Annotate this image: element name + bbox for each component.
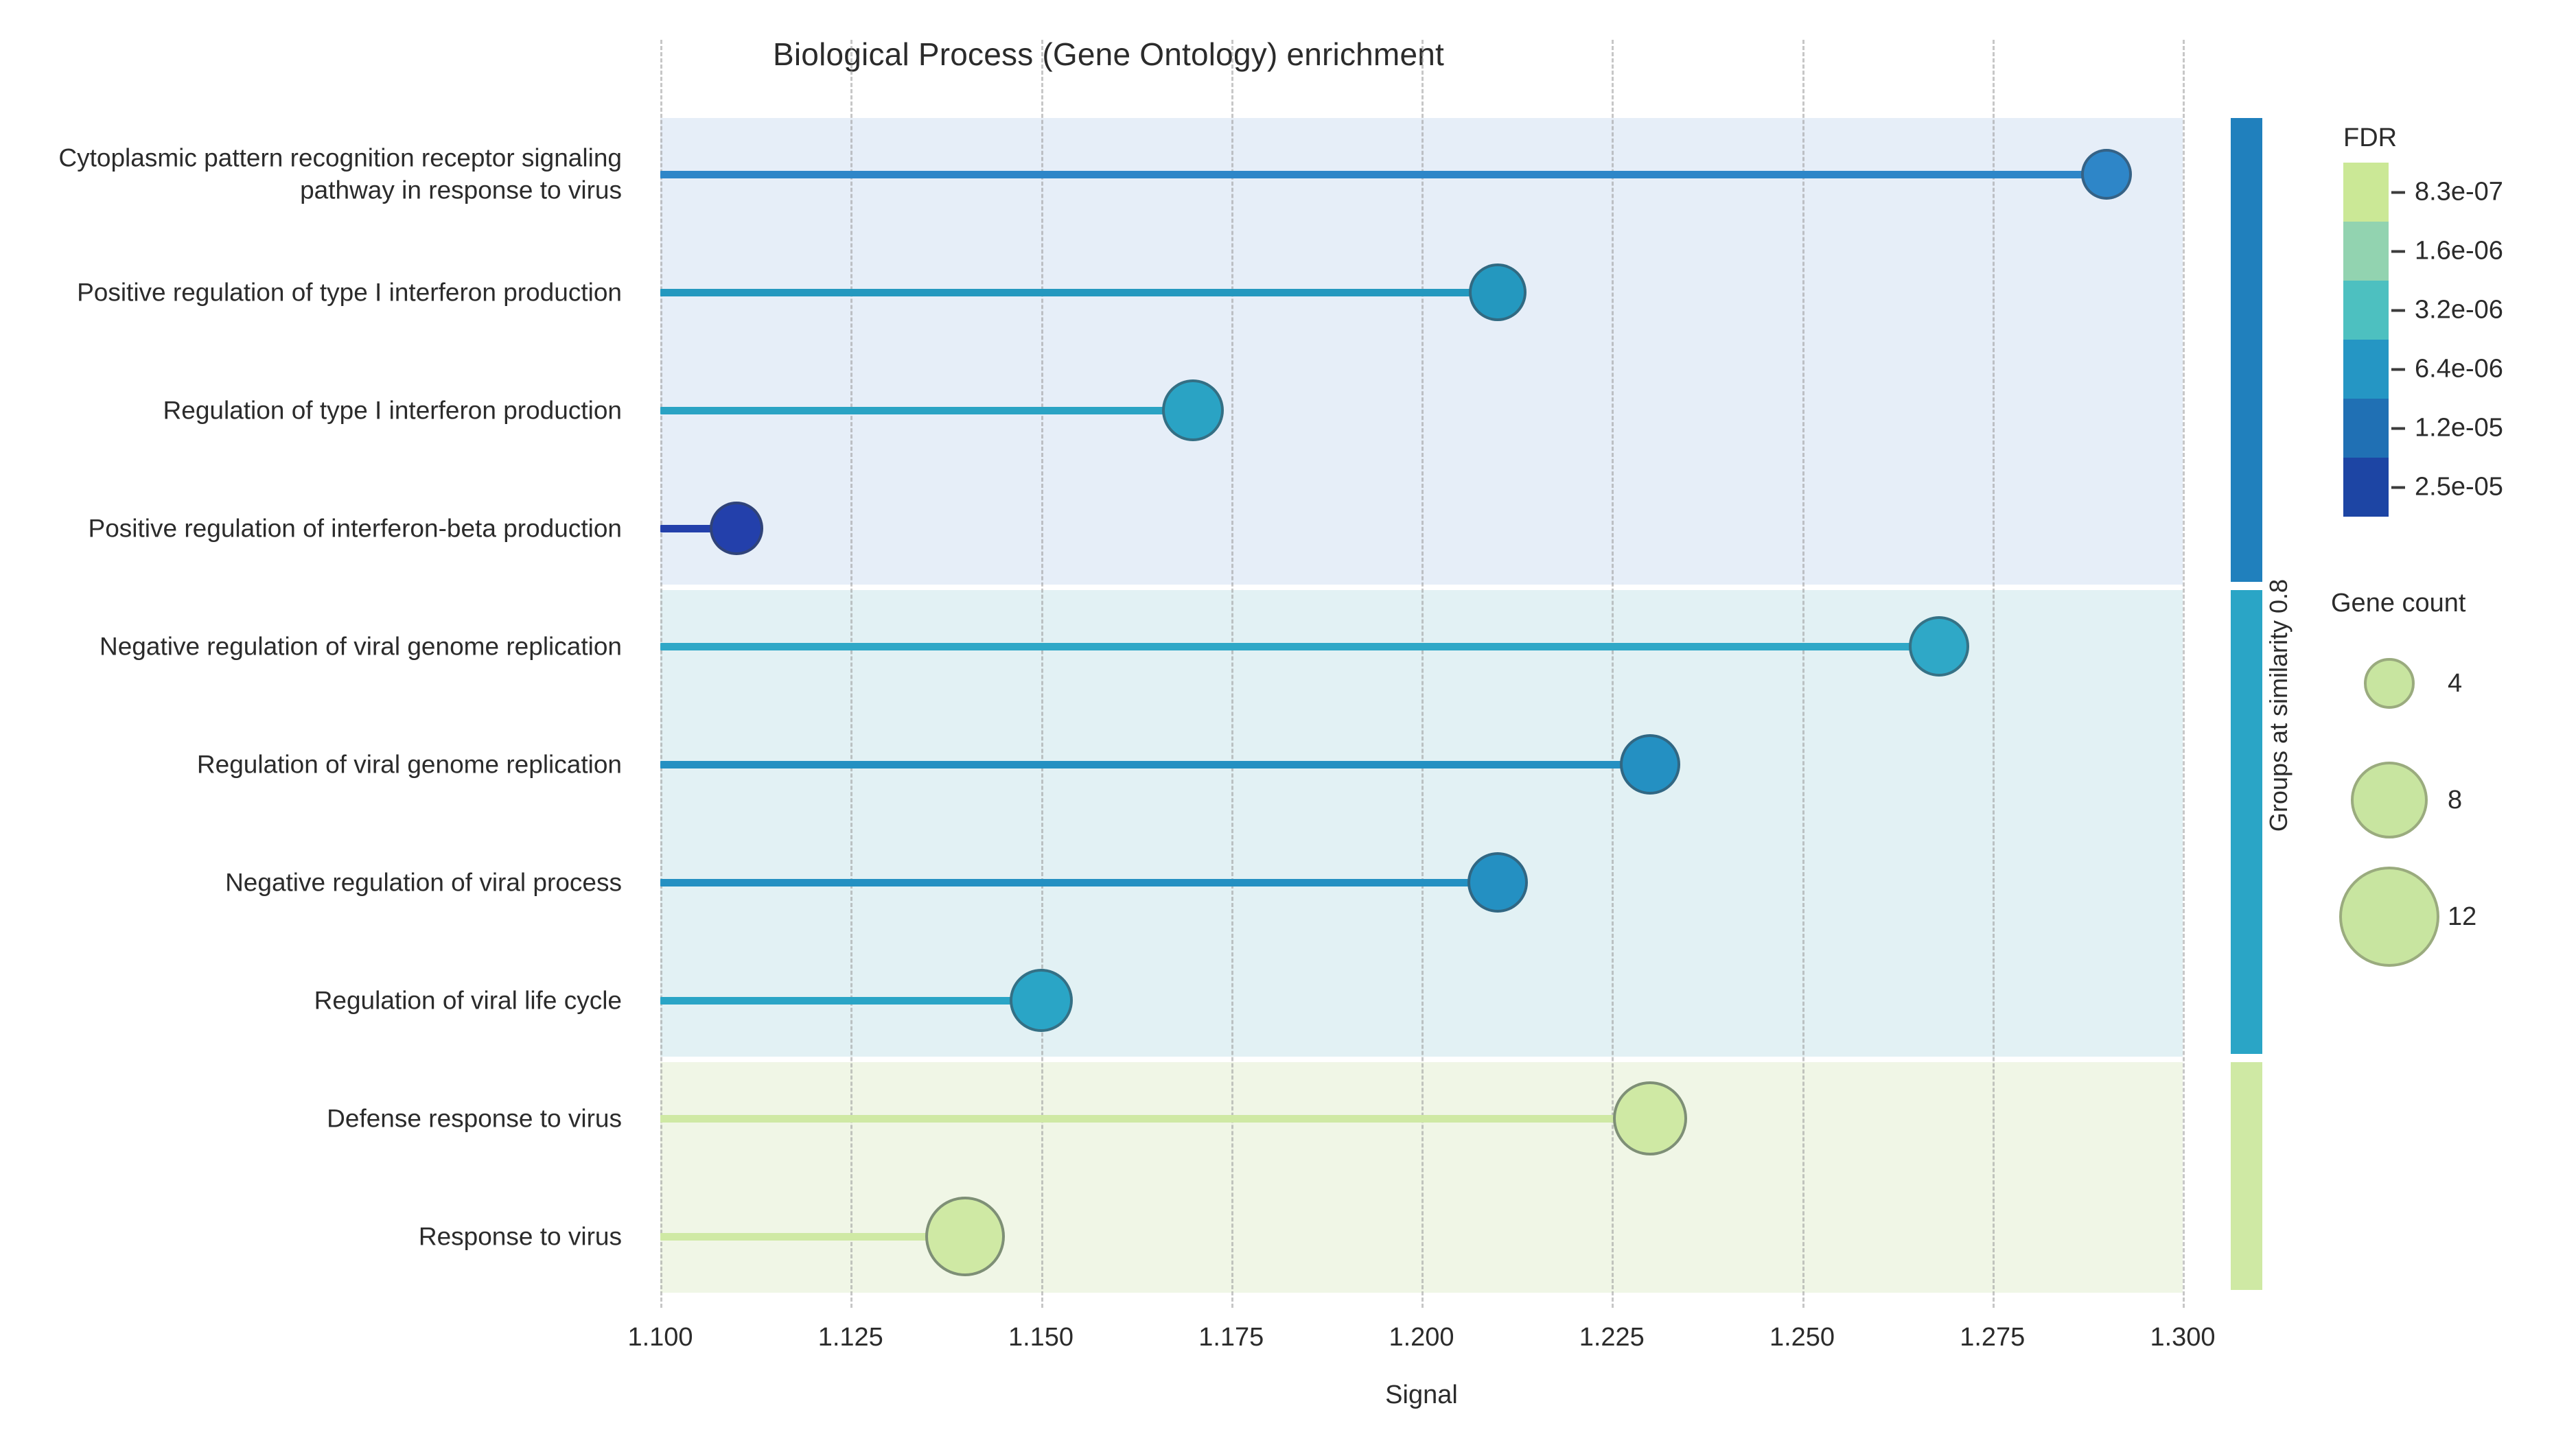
data-point-dot[interactable] (925, 1197, 1005, 1276)
gene-count-bubble (2339, 867, 2439, 967)
fdr-tick: 6.4e-06 (2391, 355, 2503, 384)
gene-count-label: 8 (2448, 786, 2462, 815)
fdr-tick-dash (2391, 250, 2405, 253)
y-axis-label: Negative regulation of viral process (4, 866, 622, 898)
y-axis-label: Regulation of type I interferon producti… (4, 394, 622, 426)
lollipop-stem (660, 1115, 1650, 1123)
fdr-colorbar: 8.3e-071.6e-063.2e-066.4e-061.2e-052.5e-… (2343, 163, 2389, 517)
fdr-tick-dash (2391, 368, 2405, 371)
lollipop-stem (660, 879, 1498, 886)
x-axis-tick-label: 1.100 (627, 1323, 693, 1352)
fdr-tick-dash (2391, 309, 2405, 312)
x-gridline (1802, 40, 1804, 1308)
y-axis-label: Positive regulation of type I interferon… (4, 276, 622, 308)
data-point-dot[interactable] (1467, 852, 1528, 913)
group-axis-title-text: Groups at similarity 0.8 (2264, 579, 2293, 832)
gene-count-bubble-wrap (2331, 762, 2448, 838)
fdr-colorbar-band (2343, 399, 2389, 458)
fdr-colorbar-band (2343, 340, 2389, 399)
x-axis-tick-label: 1.150 (1008, 1323, 1073, 1352)
x-axis-tick-label: 1.300 (2150, 1323, 2215, 1352)
fdr-tick-dash (2391, 191, 2405, 193)
lollipop-stem (660, 997, 1041, 1005)
fdr-legend-title: FDR (2343, 124, 2564, 153)
y-axis-label: Regulation of viral genome replication (4, 748, 622, 780)
fdr-tick: 8.3e-07 (2391, 178, 2503, 207)
data-point-dot[interactable] (1469, 263, 1527, 321)
x-gridline (2183, 40, 2185, 1308)
lollipop-stem (660, 643, 1939, 650)
gene-count-bubble (2364, 658, 2415, 709)
fdr-tick-label: 1.6e-06 (2415, 237, 2503, 266)
data-point-dot[interactable] (1909, 616, 1969, 677)
fdr-tick-label: 3.2e-06 (2415, 296, 2503, 325)
fdr-tick: 1.2e-05 (2391, 414, 2503, 443)
gene-count-bubble (2351, 762, 2428, 838)
fdr-tick-dash (2391, 486, 2405, 489)
data-point-dot[interactable] (1162, 379, 1224, 441)
data-point-dot[interactable] (1620, 734, 1680, 795)
x-axis-title: Signal (660, 1381, 2183, 1410)
gene-count-label: 4 (2448, 669, 2462, 698)
x-axis-tick-label: 1.275 (1960, 1323, 2025, 1352)
group-axis-title: Groups at similarity 0.8 (2258, 115, 2299, 1295)
fdr-colorbar-band (2343, 163, 2389, 222)
y-axis-label: Defense response to virus (4, 1102, 622, 1134)
data-point-dot[interactable] (710, 502, 763, 555)
x-axis-tick-label: 1.250 (1769, 1323, 1835, 1352)
fdr-colorbar-band (2343, 281, 2389, 340)
fdr-tick: 2.5e-05 (2391, 473, 2503, 502)
lollipop-stem (660, 1233, 965, 1241)
gene-count-legend: Gene count 4812 (2331, 589, 2564, 975)
lollipop-stem (660, 171, 2106, 178)
gene-count-label: 12 (2448, 902, 2476, 932)
y-axis-label: Cytoplasmic pattern recognition receptor… (4, 142, 622, 207)
gene-count-bubble-wrap (2331, 658, 2448, 709)
fdr-legend: FDR 8.3e-071.6e-063.2e-066.4e-061.2e-052… (2331, 124, 2564, 517)
gene-count-legend-row: 4 (2331, 625, 2564, 742)
gene-count-legend-rows: 4812 (2331, 625, 2564, 975)
fdr-tick: 1.6e-06 (2391, 237, 2503, 266)
y-axis-label: Regulation of viral life cycle (4, 984, 622, 1016)
fdr-tick-label: 2.5e-05 (2415, 473, 2503, 502)
y-axis-label: Positive regulation of interferon-beta p… (4, 512, 622, 544)
data-point-dot[interactable] (1613, 1081, 1687, 1155)
fdr-tick: 3.2e-06 (2391, 296, 2503, 325)
gene-count-bubble-wrap (2331, 867, 2448, 967)
x-axis-tick-label: 1.175 (1198, 1323, 1264, 1352)
gene-count-legend-row: 12 (2331, 858, 2564, 975)
data-point-dot[interactable] (1010, 969, 1073, 1032)
x-gridline (1993, 40, 1995, 1308)
fdr-tick-label: 8.3e-07 (2415, 178, 2503, 207)
fdr-colorbar-band (2343, 222, 2389, 281)
y-axis-label: Response to virus (4, 1220, 622, 1252)
chart-page: Biological Process (Gene Ontology) enric… (0, 0, 2565, 1456)
data-point-dot[interactable] (2081, 149, 2132, 200)
x-axis-tick-label: 1.225 (1579, 1323, 1645, 1352)
lollipop-stem (660, 761, 1650, 768)
fdr-tick-label: 1.2e-05 (2415, 414, 2503, 443)
x-axis-tick-label: 1.125 (818, 1323, 883, 1352)
page-title: Biological Process (Gene Ontology) enric… (0, 36, 2217, 73)
y-axis-labels: Cytoplasmic pattern recognition receptor… (0, 115, 638, 1295)
lollipop-stem (660, 289, 1498, 296)
x-axis-tick-label: 1.200 (1389, 1323, 1454, 1352)
gene-count-legend-title: Gene count (2331, 589, 2564, 618)
lollipop-stem (660, 407, 1193, 414)
gene-count-legend-row: 8 (2331, 742, 2564, 858)
fdr-tick-dash (2391, 427, 2405, 430)
plot-panel (660, 115, 2183, 1295)
fdr-tick-label: 6.4e-06 (2415, 355, 2503, 384)
y-axis-label: Negative regulation of viral genome repl… (4, 630, 622, 662)
fdr-colorbar-band (2343, 458, 2389, 517)
